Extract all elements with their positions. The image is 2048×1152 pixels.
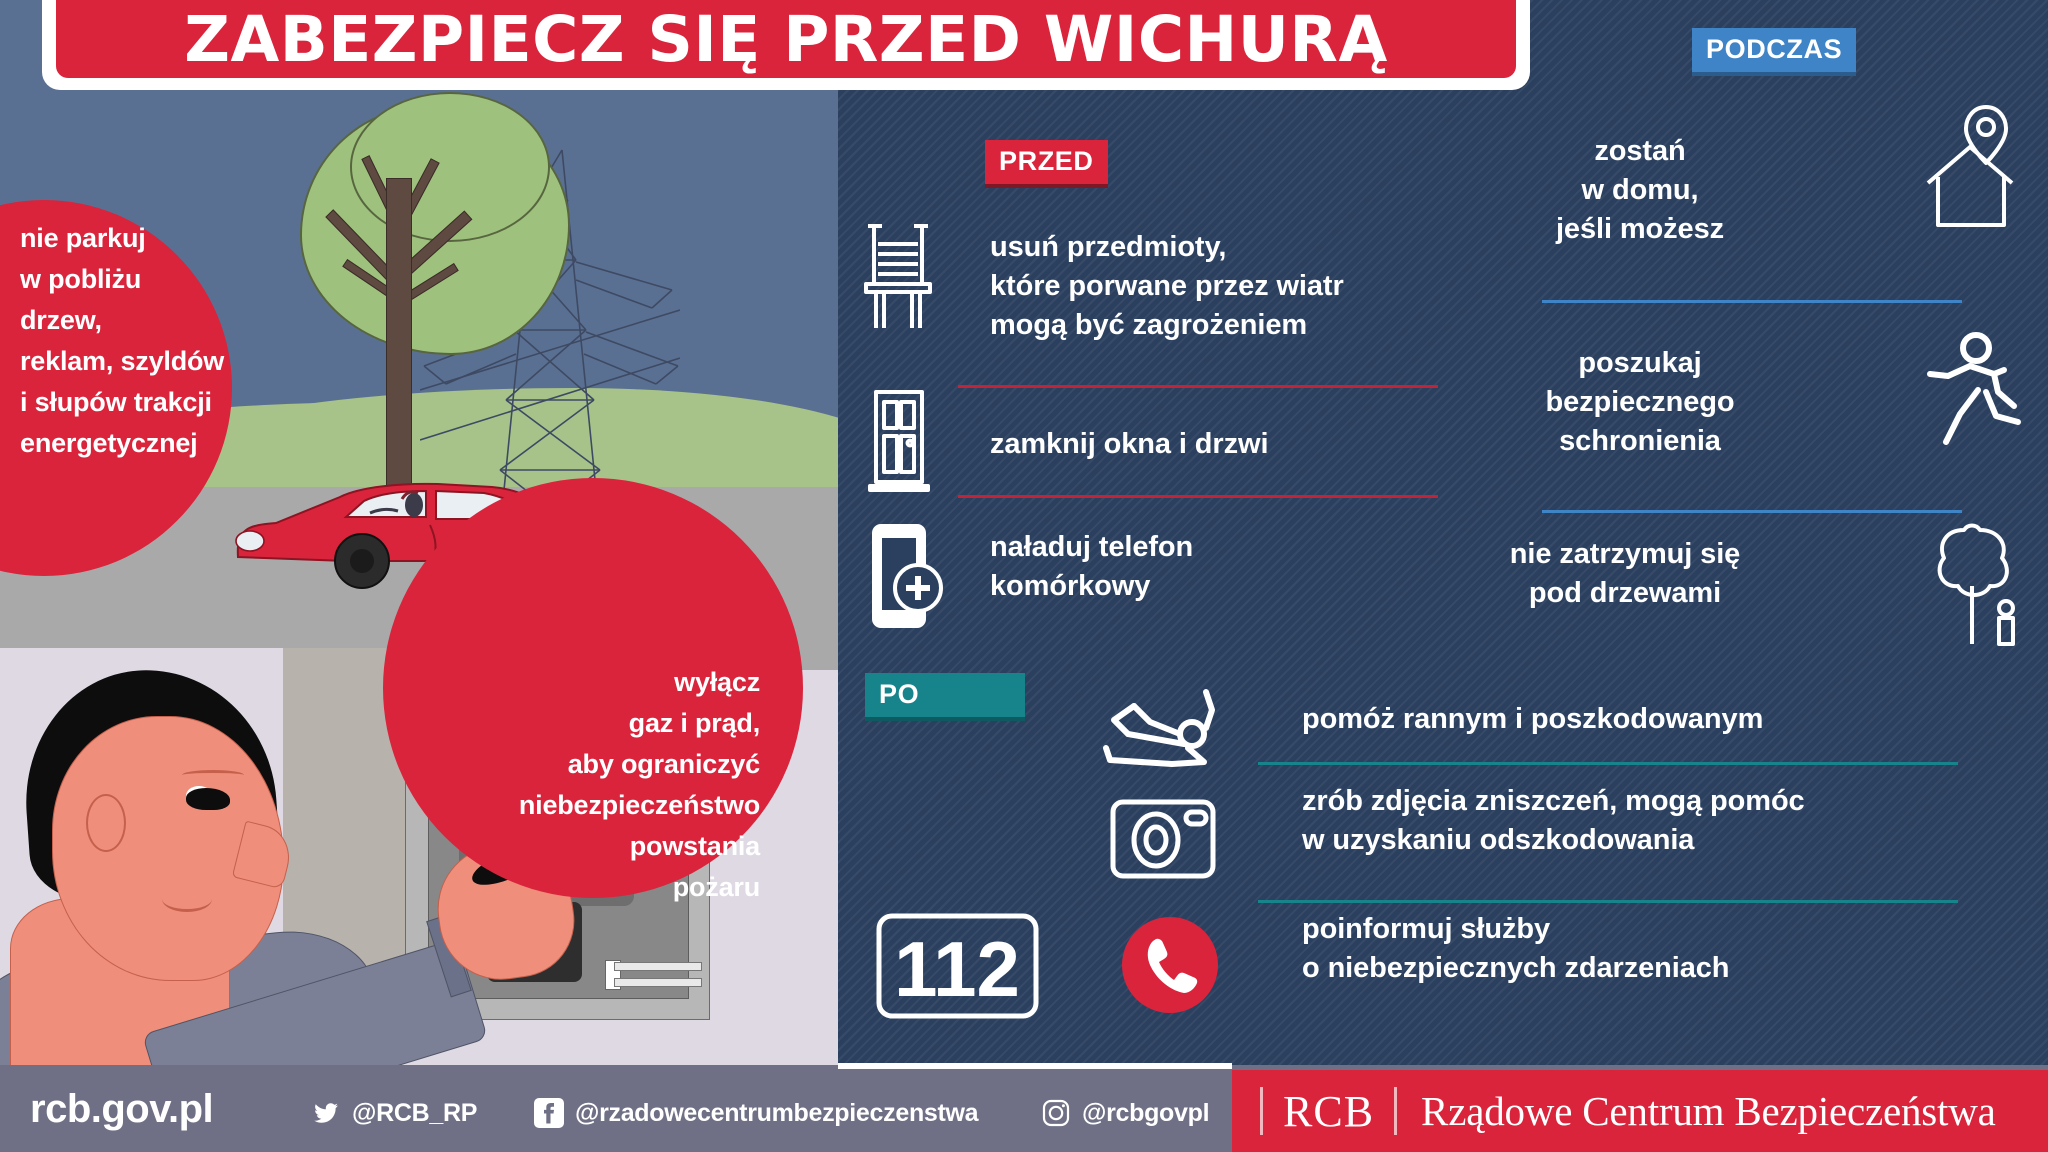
- title-banner: ZABEZPIECZ SIĘ PRZED WICHURĄ: [42, 0, 1530, 90]
- facebook-icon: [533, 1097, 565, 1129]
- przed-1-line-1: usuń przedmioty,: [990, 228, 1490, 267]
- tree-crown-top: [350, 92, 550, 242]
- social-twitter[interactable]: @RCB_RP: [310, 1097, 477, 1129]
- emergency-number-icon: 112: [875, 912, 1040, 1020]
- brand-full-name: Rządowe Centrum Bezpieczeństwa: [1421, 1087, 1996, 1135]
- injured-person-icon: [1088, 682, 1228, 774]
- item-text-close-windows: zamknij okna i drzwi: [990, 425, 1490, 464]
- person-mouth: [162, 886, 212, 912]
- no-parking-line-4: reklam, szyldów: [20, 341, 270, 382]
- przed-1-line-3: mogą być zagrożeniem: [990, 306, 1490, 345]
- po-1-line-1: pomóż rannym i poszkodowanym: [1302, 700, 1902, 739]
- social-facebook[interactable]: @rzadowecentrumbezpieczenstwa: [533, 1097, 978, 1129]
- przed-2-line-1: zamknij okna i drzwi: [990, 425, 1490, 464]
- door-icon: [868, 388, 930, 494]
- podczas-2-line-1: poszukaj: [1490, 344, 1790, 383]
- title-bar: ZABEZPIECZ SIĘ PRZED WICHURĄ: [56, 0, 1516, 78]
- item-text-seek-shelter: poszukaj bezpiecznego schronienia: [1490, 344, 1790, 461]
- phone-charge-icon: [870, 522, 946, 632]
- po-3-line-1: poinformuj służby: [1302, 910, 2002, 949]
- divider-po-1: [1258, 762, 1958, 765]
- item-text-take-photos: zrób zdjęcia zniszczeń, mogą pomóc w uzy…: [1302, 782, 2002, 860]
- no-parking-text: nie parkuj w pobliżu drzew, reklam, szyl…: [20, 218, 270, 464]
- item-text-remove-objects: usuń przedmioty, które porwane przez wia…: [990, 228, 1490, 345]
- house-pin-icon: [1918, 105, 2026, 233]
- podczas-1-line-1: zostań: [1490, 132, 1790, 171]
- badge-po: PO: [865, 673, 1025, 721]
- instagram-icon: [1040, 1097, 1072, 1129]
- infographic-poster: nie parkuj w pobliżu drzew, reklam, szyl…: [0, 0, 2048, 1152]
- item-text-help-injured: pomóż rannym i poszkodowanym: [1302, 700, 1902, 739]
- camera-icon: [1108, 790, 1218, 880]
- divider-przed-1: [958, 385, 1438, 388]
- facebook-handle: @rzadowecentrumbezpieczenstwa: [575, 1099, 978, 1128]
- przed-3-line-1: naładuj telefon: [990, 528, 1490, 567]
- podczas-3-line-1: nie zatrzymuj się: [1450, 535, 1800, 574]
- svg-text:112: 112: [894, 925, 1020, 1013]
- running-person-icon: [1918, 330, 2028, 454]
- person-eye: [186, 788, 230, 810]
- footer-white-gap: [838, 1063, 1232, 1069]
- przed-1-line-2: które porwane przez wiatr: [990, 267, 1490, 306]
- item-text-stay-home: zostań w domu, jeśli możesz: [1490, 132, 1790, 249]
- divider-podczas-1: [1542, 300, 1962, 303]
- badge-podczas: PODCZAS: [1692, 28, 1856, 76]
- brand-abbr: RCB: [1283, 1086, 1374, 1137]
- podczas-2-line-2: bezpiecznego: [1490, 383, 1790, 422]
- item-text-no-trees: nie zatrzymuj się pod drzewami: [1450, 535, 1800, 613]
- twitter-handle: @RCB_RP: [352, 1099, 477, 1128]
- divider-przed-2: [958, 495, 1438, 498]
- chair-icon: [862, 222, 934, 332]
- no-parking-line-2: w pobliżu: [20, 259, 270, 300]
- badge-przed: PRZED: [985, 140, 1108, 188]
- podczas-1-line-3: jeśli możesz: [1490, 210, 1790, 249]
- item-text-charge-phone: naładuj telefon komórkowy: [990, 528, 1490, 606]
- divider-podczas-2: [1542, 510, 1962, 513]
- gas-line-4: niebezpieczeństwo: [430, 785, 760, 826]
- no-parking-line-6: energetycznej: [20, 423, 270, 464]
- przed-3-line-2: komórkowy: [990, 567, 1490, 606]
- no-parking-line-1: nie parkuj: [20, 218, 270, 259]
- no-parking-line-3: drzew,: [20, 300, 270, 341]
- emergency-call-icon: [1120, 915, 1220, 1015]
- po-2-line-2: w uzyskaniu odszkodowania: [1302, 821, 2002, 860]
- person-eyebrow: [182, 770, 244, 780]
- turn-off-gas-text: wyłącz gaz i prąd, aby ograniczyć niebez…: [430, 662, 760, 908]
- gas-line-3: aby ograniczyć: [430, 744, 760, 785]
- twitter-icon: [310, 1097, 342, 1129]
- gas-line-2: gaz i prąd,: [430, 703, 760, 744]
- tree-person-icon: [1930, 520, 2030, 650]
- divider-po-2: [1258, 900, 1958, 903]
- gas-line-6: pożaru: [430, 867, 760, 908]
- po-2-line-1: zrób zdjęcia zniszczeń, mogą pomóc: [1302, 782, 2002, 821]
- po-3-line-2: o niebezpiecznych zdarzeniach: [1302, 949, 2002, 988]
- brand-rule-left: [1260, 1087, 1263, 1135]
- rcb-brand-bar: RCB Rządowe Centrum Bezpieczeństwa: [1232, 1070, 2048, 1152]
- person-ear: [86, 794, 126, 852]
- instagram-handle: @rcbgovpl: [1082, 1099, 1209, 1128]
- podczas-1-line-2: w domu,: [1490, 171, 1790, 210]
- item-text-notify-services: poinformuj służby o niebezpiecznych zdar…: [1302, 910, 2002, 988]
- social-instagram[interactable]: @rcbgovpl: [1040, 1097, 1209, 1129]
- podczas-3-line-2: pod drzewami: [1450, 574, 1800, 613]
- gas-line-1: wyłącz: [430, 662, 760, 703]
- no-parking-line-5: i słupów trakcji: [20, 382, 270, 423]
- podczas-2-line-3: schronienia: [1490, 422, 1790, 461]
- meter-wire: [614, 978, 702, 987]
- website-link[interactable]: rcb.gov.pl: [30, 1087, 213, 1132]
- gas-line-5: powstania: [430, 826, 760, 867]
- meter-wire: [614, 962, 702, 971]
- brand-rule-right: [1394, 1087, 1397, 1135]
- page-title: ZABEZPIECZ SIĘ PRZED WICHURĄ: [184, 8, 1387, 71]
